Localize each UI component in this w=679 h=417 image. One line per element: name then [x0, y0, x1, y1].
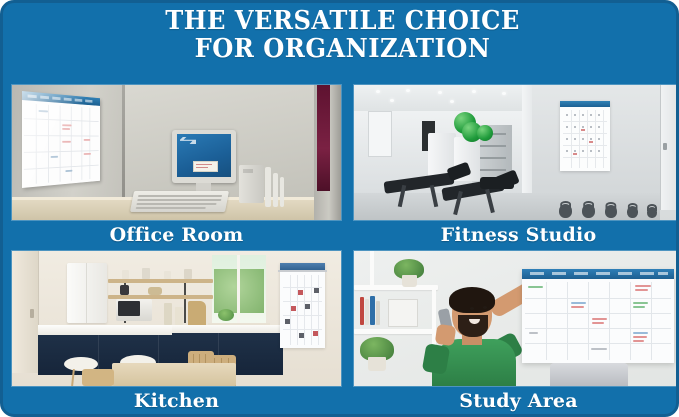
cable-bundle — [265, 167, 271, 207]
bookshelf-top — [354, 285, 438, 290]
title-line-1: THE VERSATILE CHOICE — [165, 6, 519, 36]
photo-kitchen — [12, 251, 341, 386]
wall-calendar — [280, 263, 325, 348]
scene-kitchen — [12, 251, 341, 386]
caption-fitness-studio: Fitness Studio — [354, 220, 679, 250]
plant-pot-top — [402, 275, 417, 287]
title-line-2: FOR ORGANIZATION — [27, 35, 658, 63]
counter-jar-2 — [175, 307, 183, 325]
counter-plant — [218, 309, 234, 321]
refrigerator — [67, 263, 107, 323]
card-study-area[interactable]: Study Area — [354, 251, 679, 416]
book-2 — [365, 299, 369, 325]
card-office-room[interactable]: Office Room — [12, 85, 341, 250]
dining-table — [112, 363, 236, 386]
eye-left — [470, 307, 474, 310]
caption-kitchen: Kitchen — [12, 386, 341, 416]
page-title: THE VERSATILE CHOICE FOR ORGANIZATION — [27, 7, 658, 63]
computer-tower — [239, 165, 264, 203]
kettlebell-5 — [647, 207, 657, 218]
kitchen-door — [12, 251, 39, 373]
calendar-hanger — [278, 270, 327, 272]
shelf-bracket-4 — [184, 299, 186, 323]
poster-container: THE VERSATILE CHOICE FOR ORGANIZATION — [0, 0, 679, 417]
eye-right — [483, 306, 487, 309]
wall-calendar — [22, 91, 100, 188]
card-kitchen[interactable]: Kitchen — [12, 251, 341, 416]
calendar-header — [560, 101, 610, 107]
book-3 — [370, 296, 375, 325]
shelf-item-4 — [184, 269, 192, 279]
dining-chair-front — [82, 369, 114, 386]
shelf-item-3 — [164, 271, 171, 279]
sticky-note — [193, 161, 218, 172]
microwave — [116, 299, 152, 321]
island-countertop — [38, 325, 172, 335]
shelf-item-6 — [148, 287, 162, 295]
card-fitness-studio[interactable]: Fitness Studio — [354, 85, 679, 250]
wall-calendar — [560, 101, 610, 171]
calendar-header — [522, 269, 674, 279]
scene-study-area — [354, 251, 679, 386]
shirt-sleeve-left — [422, 343, 450, 375]
shelf-item-5 — [120, 285, 129, 295]
exercise-ball-3 — [477, 125, 493, 141]
monitor-screen — [177, 134, 231, 177]
shelf-bracket-2 — [184, 283, 186, 295]
kettlebell-2 — [582, 204, 595, 218]
kettlebell-1 — [559, 204, 572, 218]
cable-bundle-3 — [280, 177, 284, 207]
book-4 — [376, 301, 380, 325]
plant-pot-lower — [368, 357, 386, 371]
cubicle-corner — [122, 85, 125, 205]
calendar-grid — [563, 110, 607, 168]
shelf-item-2 — [142, 268, 150, 279]
calendar-glare — [22, 91, 100, 188]
keyboard — [130, 191, 229, 212]
scene-fitness-studio — [354, 85, 679, 220]
book-1 — [360, 297, 364, 325]
gym-exit-door — [660, 85, 679, 210]
shelf-item-1 — [122, 270, 129, 279]
wall-calendar — [522, 269, 674, 363]
bookshelf-mid — [354, 329, 438, 334]
kettlebell-3 — [605, 205, 617, 218]
picture-frame — [388, 299, 418, 327]
card-row-top: Office Room — [3, 85, 679, 250]
cable-bundle-2 — [273, 173, 278, 207]
knife-block — [188, 301, 206, 325]
card-row-bottom: Kitchen — [3, 251, 679, 416]
gym-ceiling — [354, 85, 534, 111]
photo-office-room — [12, 85, 341, 220]
sun-logo-icon — [180, 137, 196, 144]
counter-jar-1 — [164, 303, 172, 325]
calendar-grid — [525, 282, 671, 360]
photo-fitness-studio — [354, 85, 679, 220]
photo-study-area — [354, 251, 679, 386]
bookshelf-upright-2 — [370, 251, 374, 287]
computer-monitor — [172, 130, 236, 183]
laptop — [550, 363, 628, 386]
kettlebell-4 — [627, 206, 638, 218]
phone-hand — [435, 324, 457, 346]
caption-office-room: Office Room — [12, 220, 341, 250]
gym-interior-door — [368, 111, 392, 157]
scene-office-room — [12, 85, 341, 220]
bench-pad-3 — [480, 177, 514, 189]
calendar-grid — [283, 275, 322, 345]
maroon-partition — [317, 85, 330, 191]
caption-study-area: Study Area — [354, 386, 679, 416]
